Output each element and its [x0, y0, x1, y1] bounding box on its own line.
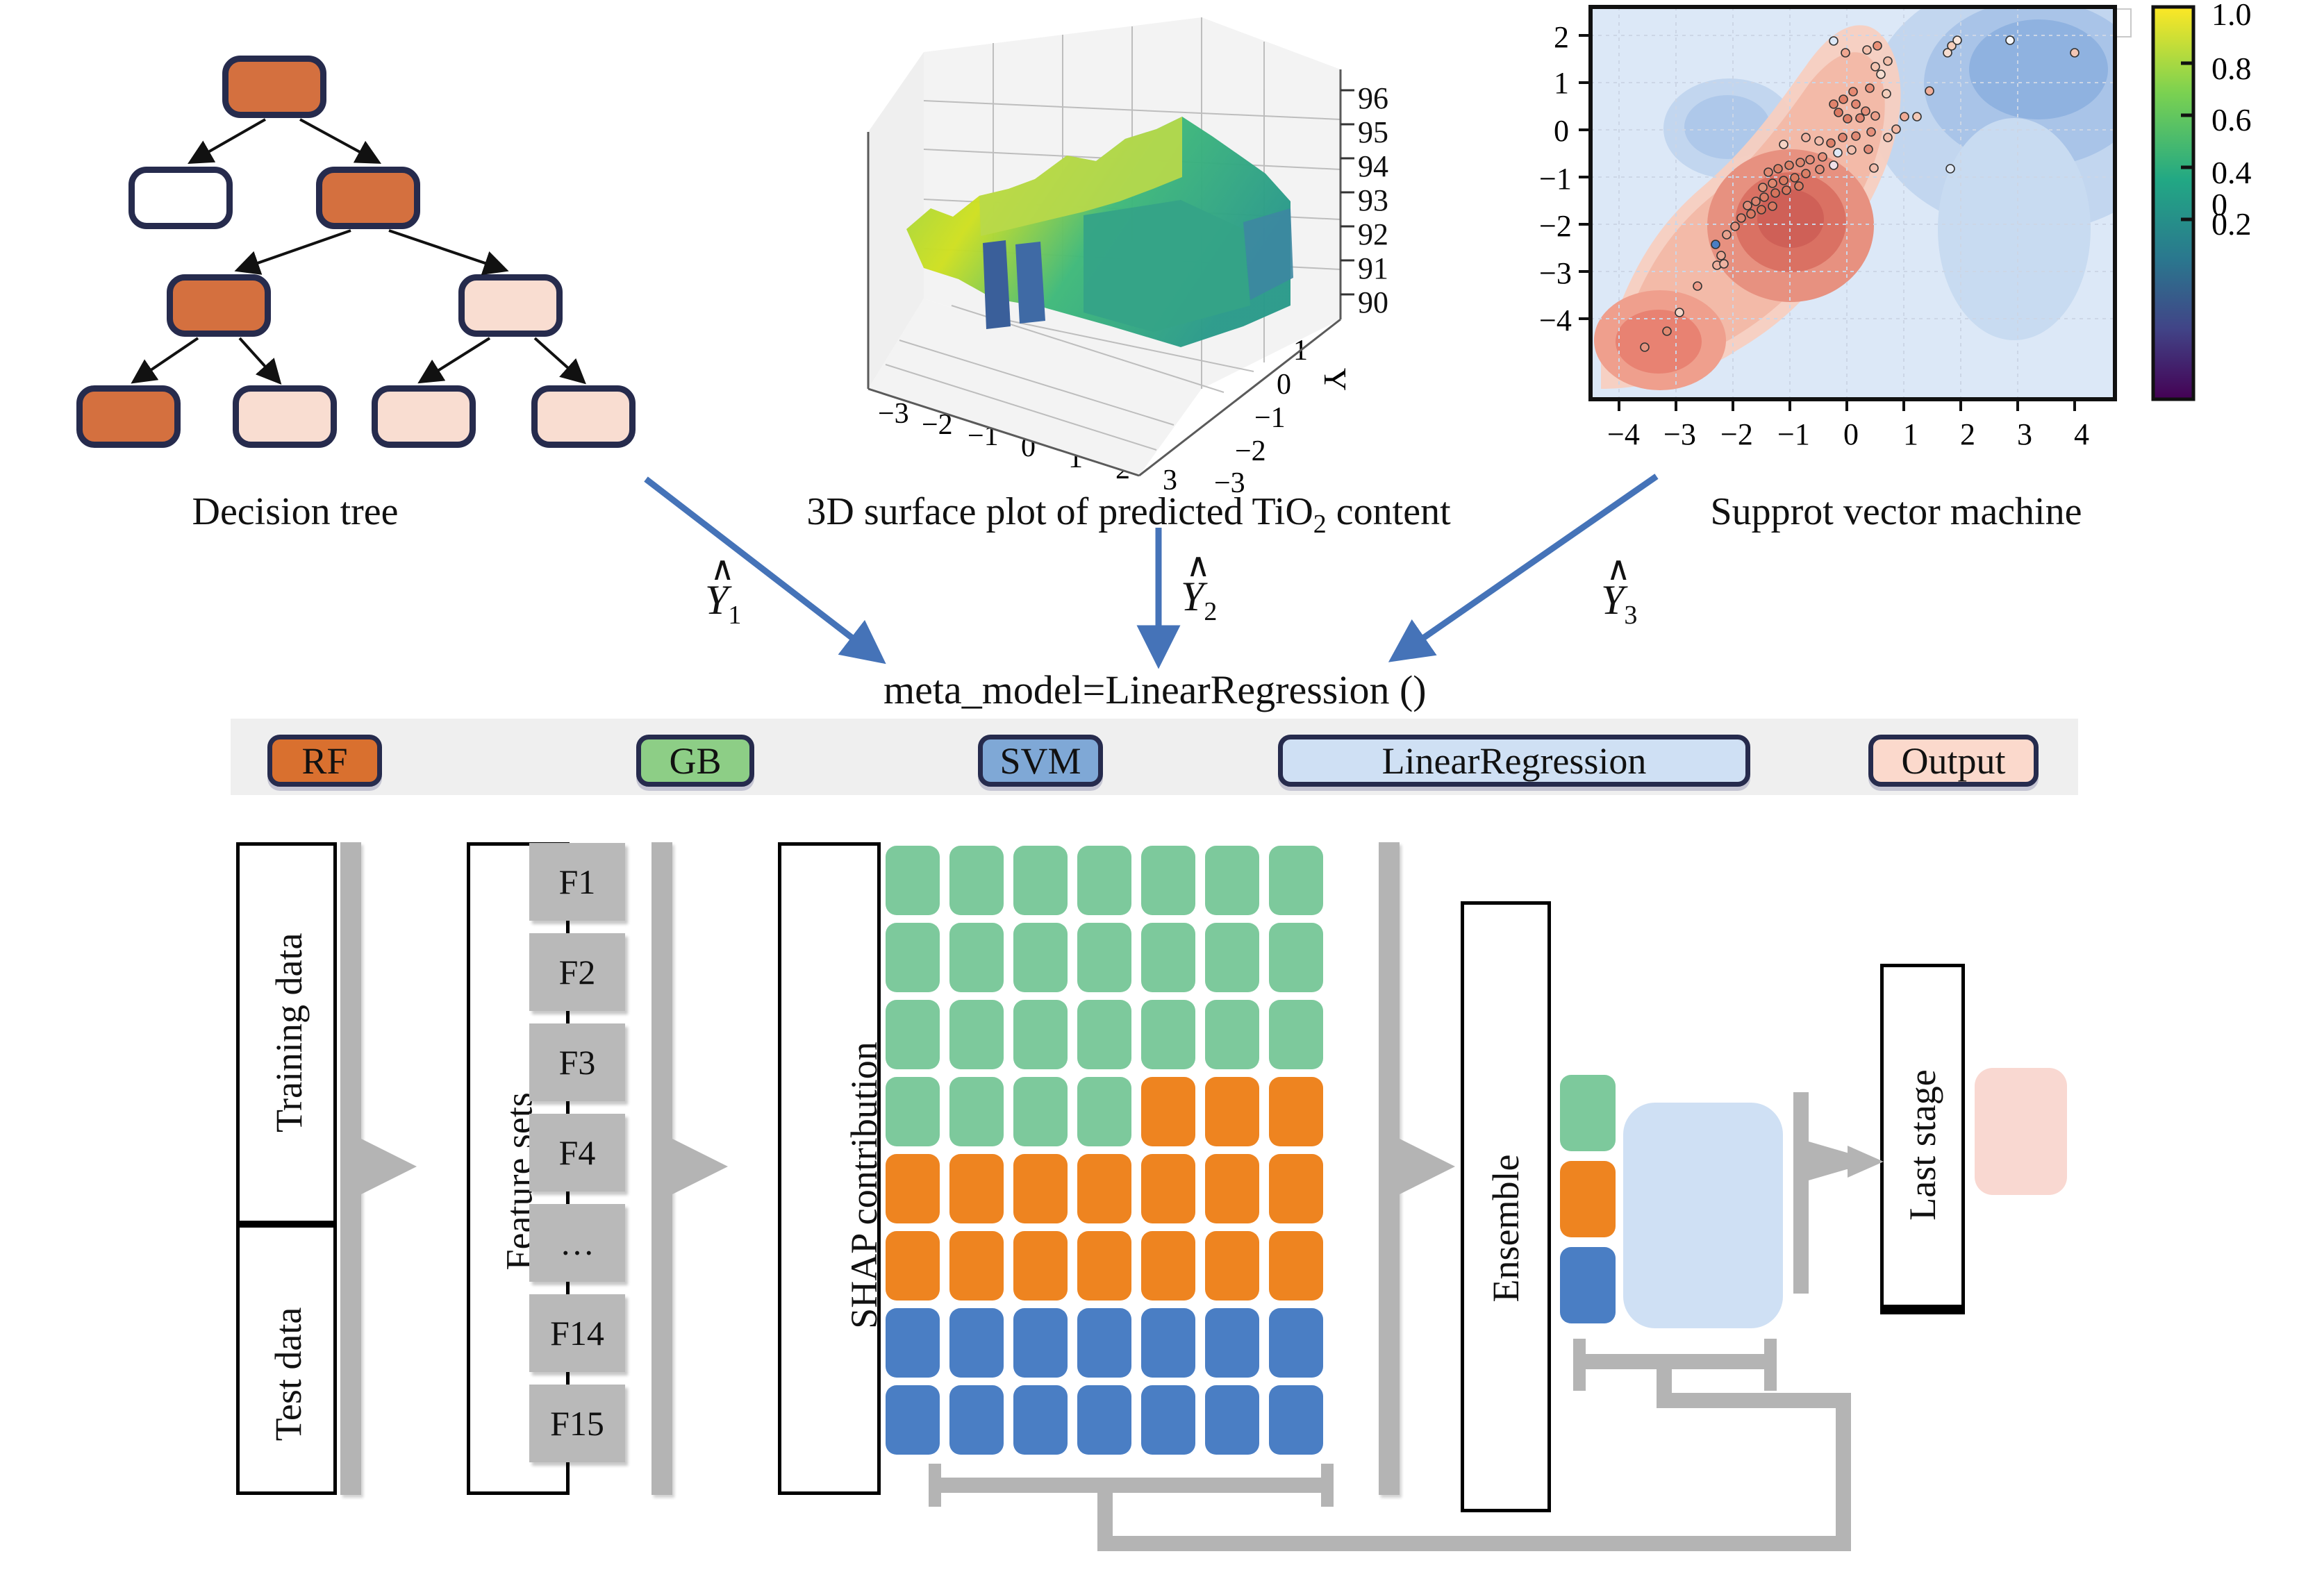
- svm-y-tick: −1: [1539, 161, 1572, 196]
- shap-cell: [886, 1231, 940, 1301]
- shap-stage-connector-bar: [1379, 842, 1400, 1495]
- z-tick: 93: [1358, 185, 1388, 219]
- tree-leaf-3: [372, 385, 476, 448]
- svm-legend-label: Support vectors: [1985, 11, 2108, 33]
- shap-grid: [886, 846, 1330, 1464]
- support-vector-points: [1641, 36, 2079, 351]
- shap-cell: [1141, 1385, 1195, 1455]
- surface-y-tick: −3: [1214, 467, 1245, 500]
- shap-cell: [949, 1308, 1004, 1378]
- shap-cell: [1077, 1231, 1131, 1301]
- yhat-2-sub: 2: [1204, 597, 1217, 626]
- shap-cell: [1141, 1077, 1195, 1146]
- surface-y-tick: 2: [1308, 297, 1322, 331]
- surface-y-tick: −2: [1235, 435, 1266, 468]
- shap-cell: [1013, 1231, 1068, 1301]
- shap-cell: [1205, 1077, 1259, 1146]
- shap-cell: [1269, 1077, 1323, 1146]
- surface-x-tick: −1: [968, 419, 999, 453]
- svm-x-tick: 3: [2017, 417, 2032, 452]
- surface-x-tick: −2: [922, 408, 953, 442]
- output-block: [1975, 1068, 2067, 1195]
- z-tick: 91: [1358, 253, 1388, 287]
- tree-node-right: [316, 167, 420, 229]
- shap-cell: [1141, 1231, 1195, 1301]
- legend-item-svm[interactable]: SVM: [978, 735, 1103, 787]
- shap-cell: [1205, 923, 1259, 992]
- shap-cell: [1205, 1385, 1259, 1455]
- shap-cell: [1013, 1154, 1068, 1223]
- surface-x-tick: 0: [1021, 430, 1036, 464]
- shap-bottom-hbar: [929, 1478, 1334, 1493]
- shap-cell: [1077, 1000, 1131, 1069]
- shap-cell: [1077, 1077, 1131, 1146]
- shap-cell: [949, 1385, 1004, 1455]
- feature-item-f15[interactable]: F15: [529, 1385, 625, 1462]
- shap-cell: [886, 846, 940, 915]
- last-stage-label: Last stage: [1901, 1056, 1944, 1234]
- feature-item-f4[interactable]: F4: [529, 1114, 625, 1191]
- svm-x-tick: 0: [1843, 417, 1859, 452]
- svm-x-tick: −2: [1720, 417, 1753, 452]
- legend-item-rf[interactable]: RF: [267, 735, 382, 787]
- feature-item-f14[interactable]: F14: [529, 1294, 625, 1372]
- svm-x-tick: 2: [1960, 417, 1975, 452]
- yhat-3-label: ∧Y3: [1601, 562, 1637, 630]
- svm-y-tick: −2: [1539, 208, 1572, 244]
- z-tick: 92: [1358, 219, 1388, 253]
- model-legend-strip: [231, 719, 2078, 795]
- svm-y-tick: 2: [1554, 19, 1569, 55]
- svm-colorbar-tick: 0.8: [2211, 50, 2252, 87]
- feature-item-f3[interactable]: F3: [529, 1023, 625, 1101]
- tree-node-left: [128, 167, 233, 229]
- shap-cell: [1013, 1077, 1068, 1146]
- shap-cell: [1269, 1231, 1323, 1301]
- shap-cell: [886, 923, 940, 992]
- tree-node-rr: [458, 274, 563, 337]
- svm-contour-plot: [1579, 0, 2193, 411]
- svm-x-tick: −1: [1777, 417, 1810, 452]
- hat-symbol: ∧: [1600, 562, 1637, 576]
- yhat-2-label: ∧Y2: [1181, 559, 1217, 627]
- feature-stage-connector-bar: [651, 842, 672, 1495]
- shap-cell: [886, 1308, 940, 1378]
- ensemble-mini-cell-blue: [1560, 1247, 1616, 1323]
- feature-item-f2[interactable]: F2: [529, 933, 625, 1011]
- surface-x-tick: 1: [1068, 442, 1083, 475]
- shap-cell: [1077, 1385, 1131, 1455]
- test-data-label: Test data: [267, 1305, 310, 1444]
- legend-item-output[interactable]: Output: [1868, 735, 2039, 787]
- surface-x-tick: 2: [1115, 453, 1130, 486]
- shap-cell: [1269, 846, 1323, 915]
- z-tick: 96: [1358, 83, 1388, 117]
- shap-cell: [1205, 846, 1259, 915]
- shap-cell: [1013, 846, 1068, 915]
- tree-leaf-1: [76, 385, 181, 448]
- surface-y-tick: 1: [1293, 334, 1308, 367]
- tree-node-rl: [167, 274, 271, 337]
- z-tick: 90: [1358, 287, 1388, 321]
- shap-cell: [1269, 1385, 1323, 1455]
- svm-x-tick: 1: [1903, 417, 1918, 452]
- svm-x-tick: −3: [1663, 417, 1696, 452]
- surface-y-axis-label: Y: [1317, 368, 1354, 391]
- figure-canvas: Decision tree 3D surface plot of predict…: [0, 0, 2324, 1572]
- shap-cell: [949, 923, 1004, 992]
- shap-cell: [1269, 923, 1323, 992]
- svm-y-tick: 0: [1554, 113, 1569, 149]
- feature-item-f1[interactable]: F1: [529, 843, 625, 921]
- shap-cell: [1077, 1154, 1131, 1223]
- tree-leaf-2: [233, 385, 337, 448]
- shap-cell: [949, 1000, 1004, 1069]
- shap-cell: [1205, 1231, 1259, 1301]
- yhat-1-sub: 1: [728, 601, 741, 630]
- legend-item-gb[interactable]: GB: [636, 735, 754, 787]
- surface-x-tick: −3: [878, 397, 909, 430]
- surface-caption-suffix: content: [1327, 490, 1451, 533]
- tree-leaf-4: [531, 385, 636, 448]
- svm-colorbar-tick: 0.6: [2211, 101, 2252, 138]
- shap-cell: [1205, 1154, 1259, 1223]
- surface-y-tick: −1: [1254, 401, 1286, 435]
- z-tick: 94: [1358, 151, 1388, 185]
- svm-x-tick: 4: [2074, 417, 2089, 452]
- shap-cell: [1205, 1000, 1259, 1069]
- shap-cell: [1269, 1000, 1323, 1069]
- legend-item-linearregression[interactable]: LinearRegression: [1278, 735, 1750, 787]
- ensemble-right-vertical-bar: [1793, 1092, 1809, 1294]
- z-tick: 95: [1358, 117, 1388, 151]
- hat-symbol: ∧: [1179, 559, 1217, 573]
- shap-cell: [1205, 1308, 1259, 1378]
- shap-cell: [886, 1000, 940, 1069]
- svm-y-tick: −4: [1539, 303, 1572, 338]
- svm-y-tick: −3: [1539, 256, 1572, 291]
- yhat-3-base: Y: [1601, 577, 1624, 623]
- ensemble-to-lastage-hbar: [1657, 1393, 1851, 1408]
- yhat-1-base: Y: [705, 577, 728, 623]
- surface-z-ticks: 96 95 94 93 92 91 90: [1358, 83, 1388, 321]
- surface-caption-sub: 2: [1313, 510, 1327, 539]
- decision-tree-caption: Decision tree: [139, 490, 451, 534]
- shap-cell: [949, 1077, 1004, 1146]
- ensemble-label: Ensemble: [1484, 1152, 1527, 1305]
- shap-cell: [1013, 923, 1068, 992]
- svm-colorbar-tick: 0: [2211, 186, 2227, 223]
- svm-colorbar-tick: 1.0: [2211, 0, 2252, 33]
- shap-cell: [949, 1154, 1004, 1223]
- svm-x-tick: −4: [1607, 417, 1640, 452]
- shap-cell: [1141, 1154, 1195, 1223]
- tree-node-root: [222, 56, 326, 118]
- ensemble-mini-cell-orange: [1560, 1161, 1616, 1237]
- shap-cell: [1269, 1308, 1323, 1378]
- shap-cell: [1077, 923, 1131, 992]
- yhat-3-sub: 3: [1624, 601, 1637, 630]
- shap-cell: [886, 1077, 940, 1146]
- shap-contribution-label: SHAP contribution: [843, 1026, 886, 1345]
- meta-model-block: [1623, 1103, 1783, 1328]
- lastage-feedback-vertical: [1836, 1393, 1851, 1551]
- shap-cell: [1013, 1385, 1068, 1455]
- shap-cell: [1077, 846, 1131, 915]
- meta-model-text: meta_model=LinearRegression (): [883, 667, 1427, 713]
- shap-cell: [1269, 1154, 1323, 1223]
- shap-cell: [1141, 846, 1195, 915]
- shap-cell: [949, 1231, 1004, 1301]
- shap-drop-vertical: [1097, 1486, 1113, 1541]
- shap-cell: [1141, 1000, 1195, 1069]
- tree-edges: [135, 119, 582, 381]
- feature-item-ellipsis: …: [529, 1204, 625, 1282]
- shap-cell: [1013, 1000, 1068, 1069]
- shap-cell: [886, 1154, 940, 1223]
- svm-y-tick: 1: [1554, 65, 1569, 101]
- training-stage-connector-bar: [340, 842, 361, 1495]
- shap-cell: [886, 1385, 940, 1455]
- yhat-2-base: Y: [1181, 574, 1204, 619]
- surface-plot-caption: 3D surface plot of predicted TiO2 conten…: [799, 490, 1459, 540]
- yhat-1-label: ∧Y1: [705, 562, 741, 630]
- hat-symbol: ∧: [704, 562, 741, 576]
- ensemble-mini-cell-green: [1560, 1075, 1616, 1151]
- surface-x-tick: 3: [1163, 464, 1177, 497]
- svm-caption: Supprot vector machine: [1653, 490, 2139, 534]
- shap-cell: [1013, 1308, 1068, 1378]
- shap-cell: [1141, 1308, 1195, 1378]
- shap-cell: [1141, 923, 1195, 992]
- training-data-label: Training data: [267, 952, 310, 1132]
- surface-y-tick: 0: [1277, 368, 1291, 401]
- shap-cell: [949, 846, 1004, 915]
- ensemble-bottom-hbar: [1573, 1354, 1777, 1369]
- lastage-feedback-hbar: [1097, 1536, 1851, 1551]
- shap-cell: [1077, 1308, 1131, 1378]
